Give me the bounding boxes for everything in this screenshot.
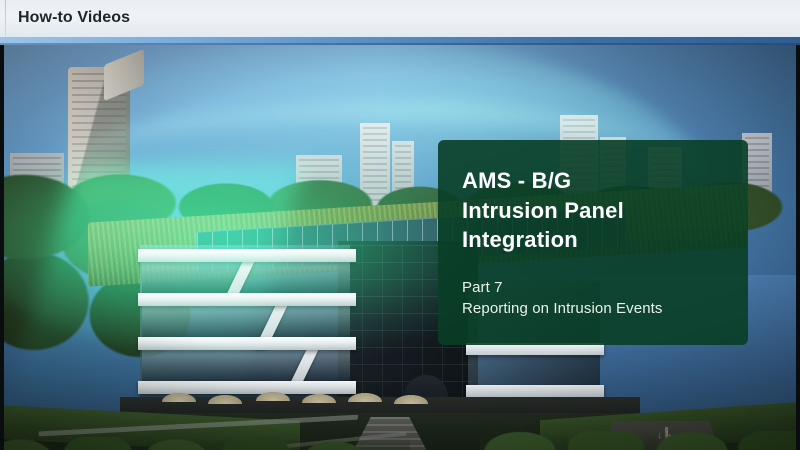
patio-umbrella [256,392,290,401]
video-subtitle-text: Reporting on Intrusion Events [462,298,724,319]
video-subtitle: Part 7 Reporting on Intrusion Events [462,277,724,320]
video-title-line-1: AMS - B/G [462,166,724,196]
video-title-line-3: Integration [462,225,724,255]
video-scene[interactable]: ↓ ↳ AMS - B/G Intrusion Panel Integratio… [0,45,800,450]
page-title: How-to Videos [18,9,130,27]
hedge-right [480,431,800,450]
video-title-card: AMS - B/G Intrusion Panel Integration Pa… [438,140,748,345]
page-header: How-to Videos [0,0,800,37]
scene-right-border [796,45,800,450]
video-title-line-2: Intrusion Panel [462,196,724,226]
header-accent-bar [0,37,800,45]
video-title: AMS - B/G Intrusion Panel Integration [462,166,724,255]
patio-umbrella [348,393,382,402]
hedge-left [0,437,410,450]
video-thumbnail-screen: How-to Videos [0,0,800,450]
header-left-divider [5,0,6,37]
right-wing-band-2 [466,385,604,397]
video-part-label: Part 7 [462,277,724,298]
patio-umbrella [302,394,336,403]
scene-left-border [0,45,4,450]
patio-umbrella [394,395,428,404]
